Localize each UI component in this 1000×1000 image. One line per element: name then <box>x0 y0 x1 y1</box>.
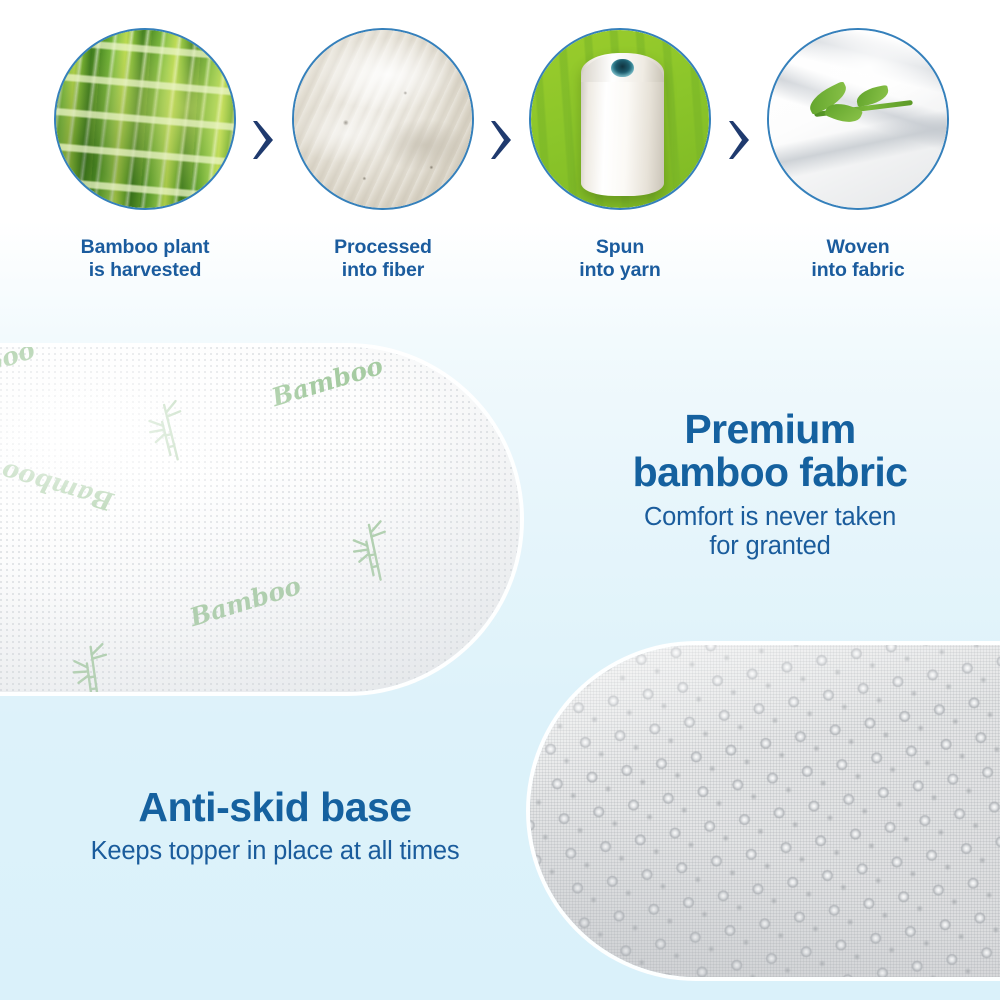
anti-skid-base-block: Anti-skid base Keeps topper in place at … <box>40 786 510 866</box>
anti-skid-subtitle: Keeps topper in place at all times <box>40 837 510 866</box>
infographic-canvas: Bamboo plant is harvested Processed into… <box>0 0 1000 1000</box>
bamboo-sprig-icon <box>805 87 922 126</box>
bamboo-fabric-closeup: Bamboo Bamboo Bamboo Bamboo <box>0 347 520 692</box>
caption-line-2: into fabric <box>758 259 958 282</box>
process-step-3-caption: Spun into yarn <box>520 236 720 281</box>
bamboo-process-row: Bamboo plant is harvested Processed into… <box>0 0 1000 320</box>
raw-fiber-photo <box>294 30 472 208</box>
anti-skid-base-closeup <box>530 645 1000 977</box>
process-step-processed-into-fiber: Processed into fiber <box>283 28 483 281</box>
process-step-2-caption: Processed into fiber <box>283 236 483 281</box>
process-step-bamboo-harvested: Bamboo plant is harvested <box>45 28 245 281</box>
premium-title-line-1: Premium <box>560 408 980 451</box>
premium-subtitle-line-2: for granted <box>560 532 980 561</box>
caption-line-1: Woven <box>758 236 958 259</box>
caption-line-2: into fiber <box>283 259 483 282</box>
process-step-4-caption: Woven into fabric <box>758 236 958 281</box>
caption-line-2: into yarn <box>520 259 720 282</box>
chevron-right-icon <box>728 118 754 162</box>
process-step-spun-into-yarn: Spun into yarn <box>520 28 720 281</box>
fabric-lighting-overlay <box>0 347 520 692</box>
woven-fabric-photo <box>769 30 947 208</box>
chevron-right-icon <box>252 118 278 162</box>
bamboo-grove-photo <box>56 30 234 208</box>
yarn-cone-photo <box>531 30 709 208</box>
yarn-cone-shape <box>581 53 665 195</box>
caption-line-2: is harvested <box>45 259 245 282</box>
premium-bamboo-fabric-block: Premium bamboo fabric Comfort is never t… <box>560 408 980 561</box>
process-step-4-image-circle <box>767 28 949 210</box>
yarn-cone-core <box>611 59 634 78</box>
premium-subtitle-line-1: Comfort is never taken <box>560 503 980 532</box>
premium-subtitle: Comfort is never taken for granted <box>560 503 980 561</box>
anti-skid-lighting-overlay <box>530 645 1000 977</box>
process-step-1-image-circle <box>54 28 236 210</box>
caption-line-1: Processed <box>283 236 483 259</box>
process-step-woven-into-fabric: Woven into fabric <box>758 28 958 281</box>
process-step-3-image-circle <box>529 28 711 210</box>
premium-title: Premium bamboo fabric <box>560 408 980 493</box>
premium-title-line-2: bamboo fabric <box>560 451 980 494</box>
anti-skid-title: Anti-skid base <box>40 786 510 829</box>
chevron-right-icon <box>490 118 516 162</box>
process-step-1-caption: Bamboo plant is harvested <box>45 236 245 281</box>
caption-line-1: Bamboo plant <box>45 236 245 259</box>
process-step-2-image-circle <box>292 28 474 210</box>
caption-line-1: Spun <box>520 236 720 259</box>
